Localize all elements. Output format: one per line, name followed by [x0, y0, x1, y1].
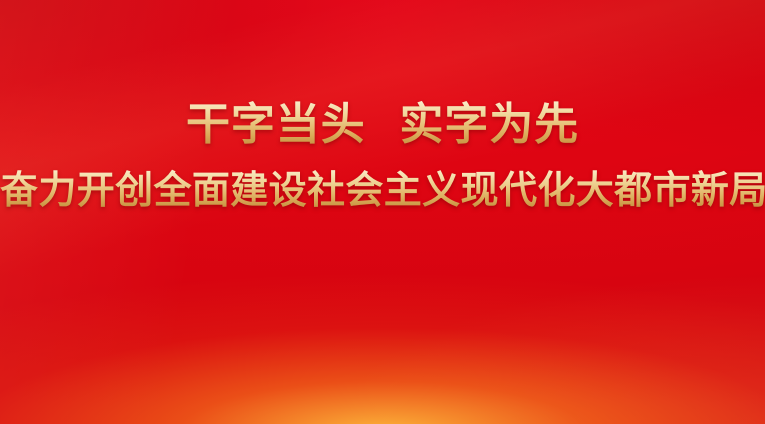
slogan-banner: 干字当头实字为先 奋力开创全面建设社会主义现代化大都市新局面	[0, 0, 765, 424]
headline-line-1: 干字当头实字为先	[0, 98, 765, 152]
headline-line-1-part-2: 实字为先	[400, 99, 580, 150]
headline-line-2: 奋力开创全面建设社会主义现代化大都市新局面	[0, 167, 765, 213]
headline-block: 干字当头实字为先 奋力开创全面建设社会主义现代化大都市新局面	[0, 98, 765, 213]
headline-line-1-part-1: 干字当头	[186, 99, 366, 150]
golden-ribbon-waves	[0, 224, 765, 424]
